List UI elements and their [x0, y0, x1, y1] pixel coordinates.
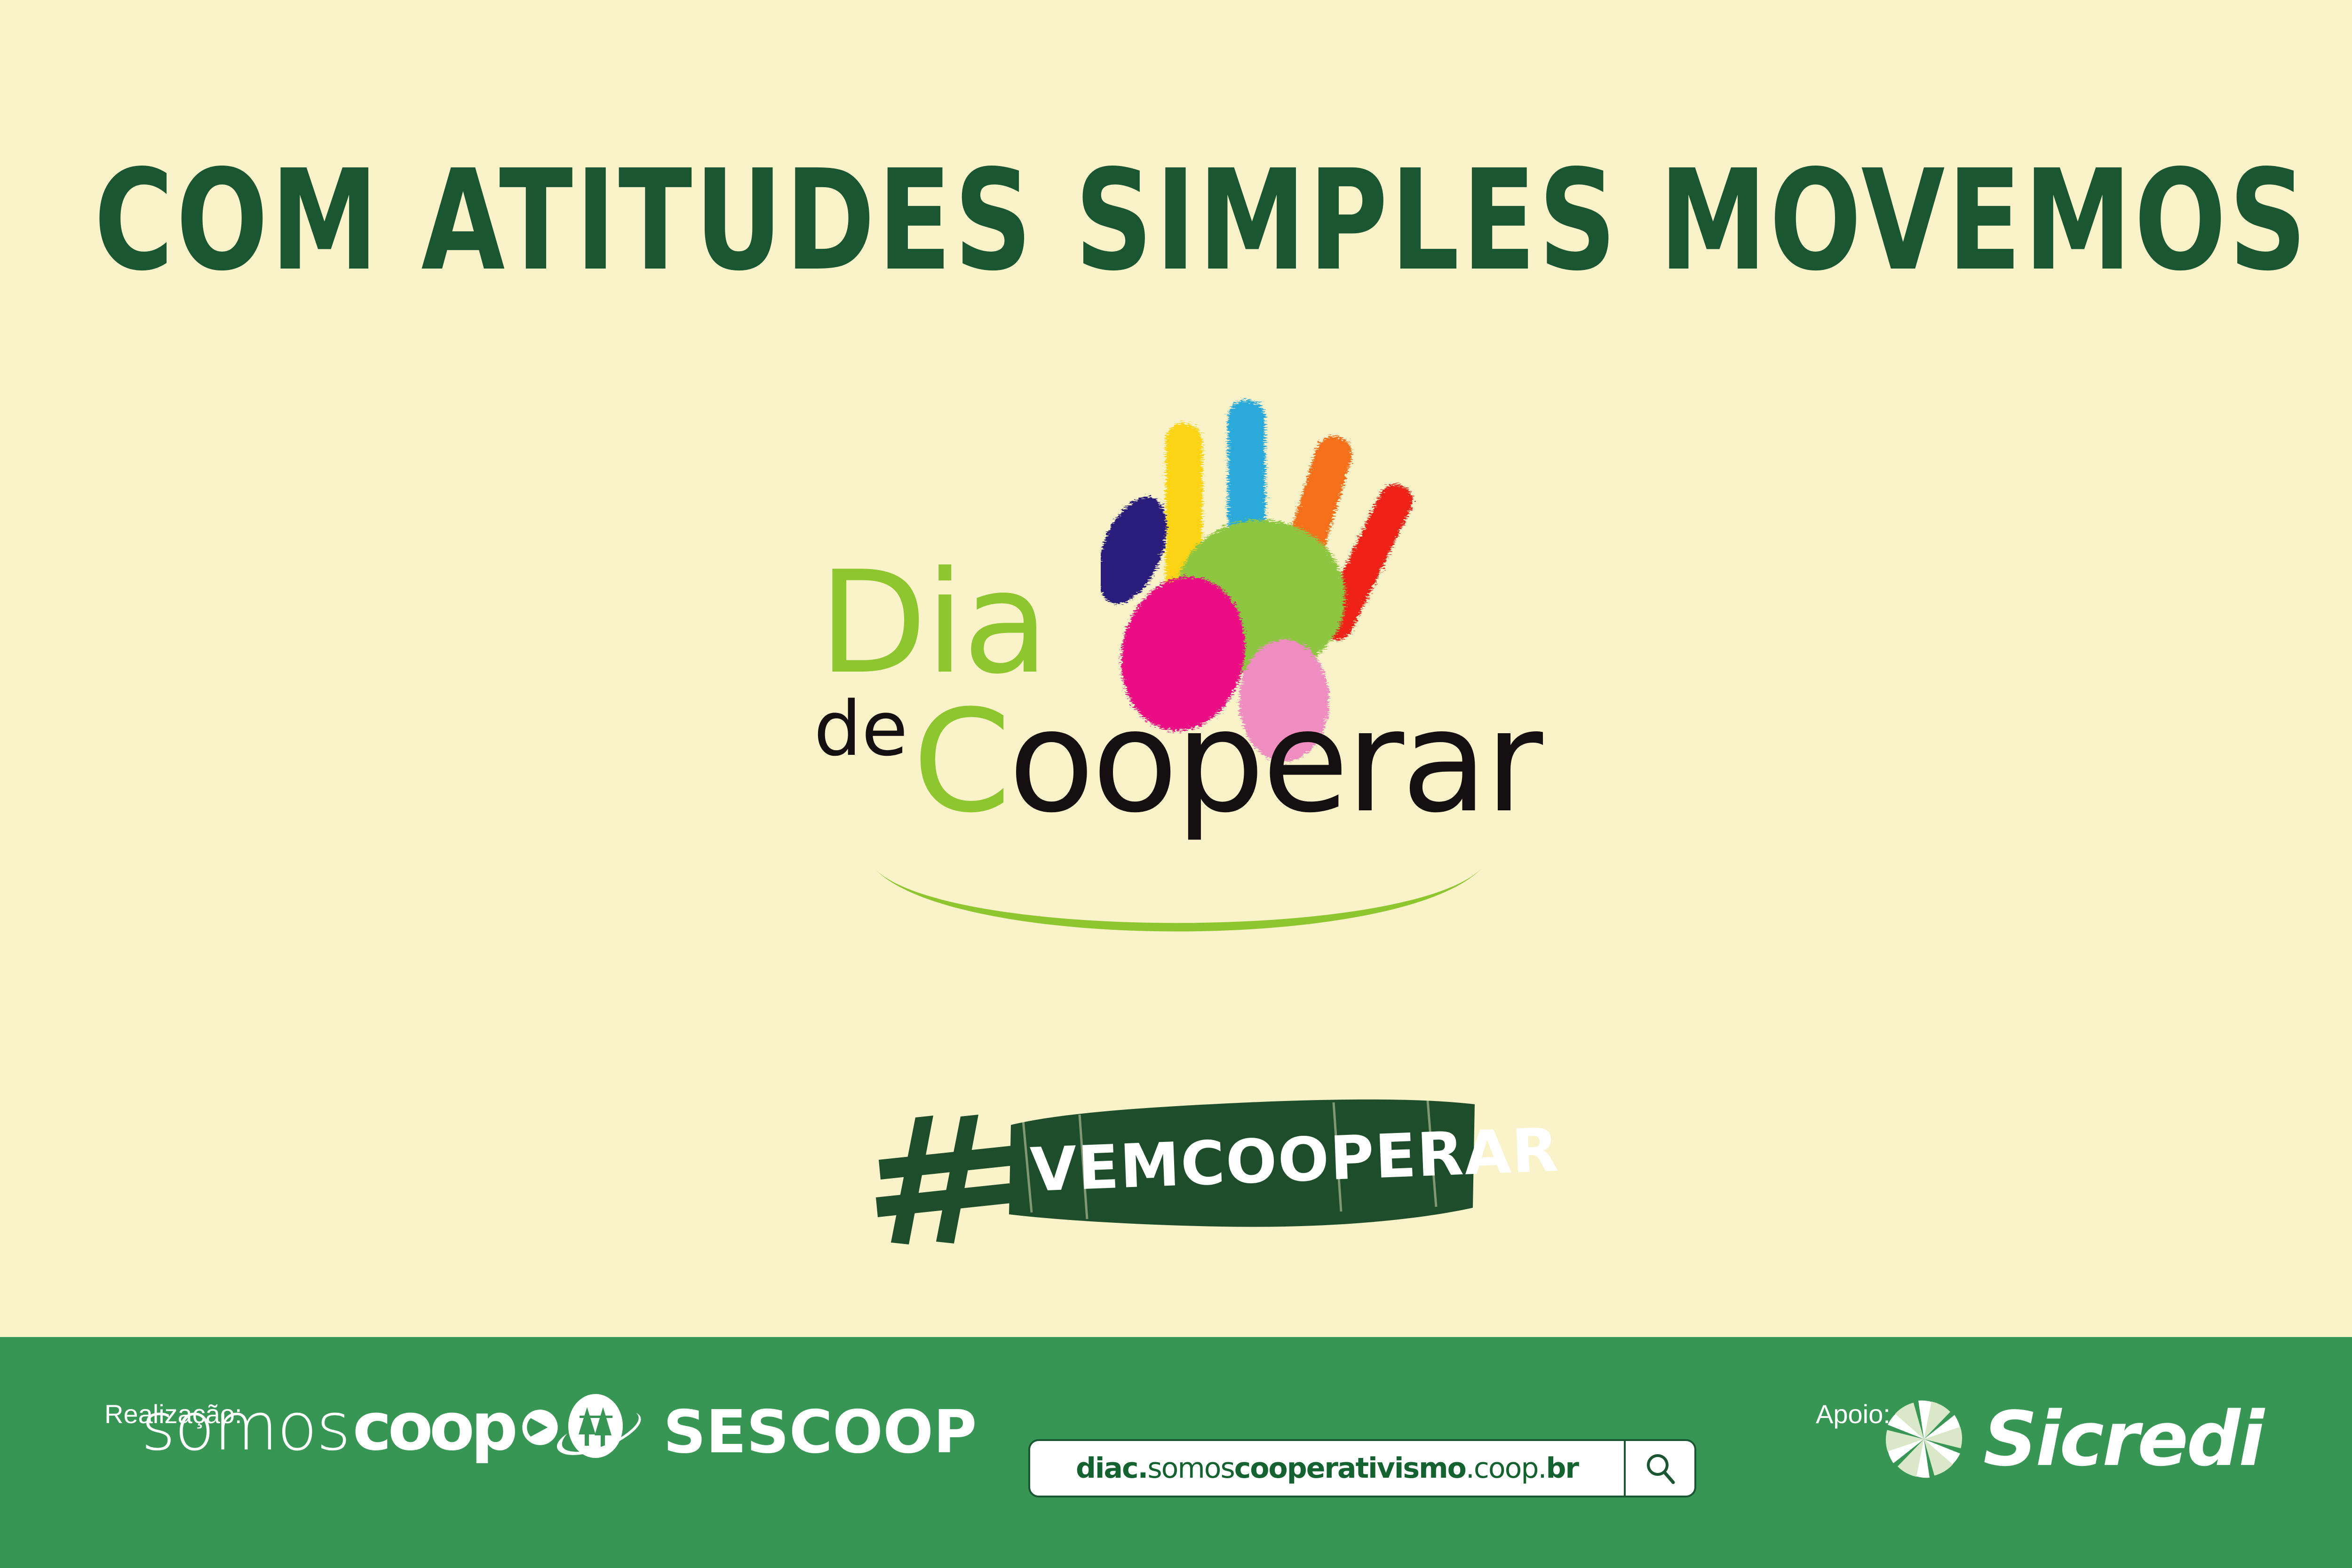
url-seg-0: diac.	[1076, 1454, 1147, 1482]
search-button[interactable]	[1624, 1441, 1694, 1496]
search-icon	[1643, 1451, 1677, 1485]
logo-cooperar-rest: ooperar	[1008, 680, 1540, 844]
sescoop-trees-orbit-icon	[550, 1392, 654, 1472]
url-seg-1: somos	[1147, 1454, 1234, 1482]
url-search-bar[interactable]: diac.somoscooperativismo.coop.br	[1028, 1439, 1696, 1497]
dia-de-cooperar-logo: Dia de Cooperar	[795, 390, 1557, 974]
sicredi-pinwheel-icon	[1877, 1392, 1971, 1486]
url-seg-3: .coop.	[1466, 1454, 1546, 1482]
logo-word-dia: Dia	[818, 553, 1047, 694]
sescoop-wordmark: SESCOOP	[663, 1402, 977, 1462]
sescoop-logo[interactable]: SESCOOP	[550, 1392, 977, 1472]
logo-cooperar-capital-c: C	[913, 680, 1008, 844]
hash-symbol-icon	[875, 1115, 1016, 1246]
poster-canvas: COM ATITUDES SIMPLES MOVEMOS O MUNDO.	[0, 0, 2352, 1568]
page-title: COM ATITUDES SIMPLES MOVEMOS O MUNDO.	[94, 151, 2258, 290]
sicredi-wordmark: Sicredi	[1983, 1402, 2263, 1477]
hashtag-label: VEMCOOPERAR	[1029, 1125, 1454, 1201]
url-seg-2: cooperativismo	[1234, 1454, 1466, 1482]
url-text[interactable]: diac.somoscooperativismo.coop.br	[1030, 1441, 1624, 1496]
green-smile-swoosh-icon	[870, 865, 1486, 950]
somoscoop-logo[interactable]: somos coop	[141, 1399, 559, 1456]
somoscoop-coop-text: coop	[353, 1394, 515, 1460]
logo-word-de: de	[814, 691, 908, 767]
logo-word-cooperar: Cooperar	[913, 691, 1540, 832]
url-seg-4: br	[1546, 1454, 1578, 1482]
sicredi-logo[interactable]: Sicredi	[1877, 1392, 2263, 1486]
somoscoop-somos-text: somos	[141, 1394, 350, 1460]
hashtag-vemcooperar: VEMCOOPERAR	[875, 1096, 1482, 1251]
